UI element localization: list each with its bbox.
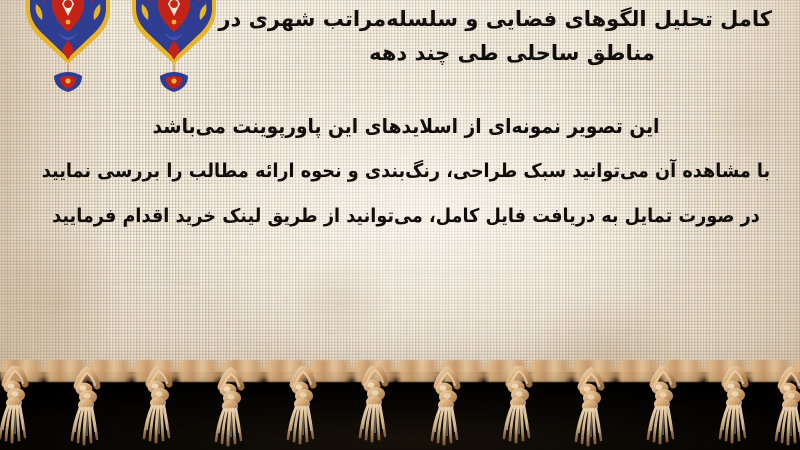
slide-title: کامل تحلیل الگوهای فضایی و سلسله‌مراتب ش… (252, 2, 772, 70)
title-line-1: کامل تحلیل الگوهای فضایی و سلسله‌مراتب ش… (252, 2, 772, 36)
body-line-1: این تصویر نمونه‌ای از اسلایدهای این پاور… (40, 104, 773, 149)
carpet-selvedge-cord (0, 360, 800, 382)
title-line-2: مناطق ساحلی طی چند دهه (252, 36, 772, 70)
carpet-black-border (0, 372, 800, 450)
body-line-3: در صورت تمایل به دریافت فایل کامل، می‌تو… (40, 194, 773, 239)
slide-body: این تصویر نمونه‌ای از اسلایدهای این پاور… (0, 104, 800, 239)
body-line-2: با مشاهده آن می‌توانید سبک طراحی، رنگ‌بن… (40, 149, 773, 194)
carpet-medallion-right-icon (128, 0, 220, 102)
carpet-medallion-left-icon (22, 0, 114, 102)
slide-canvas: کامل تحلیل الگوهای فضایی و سلسله‌مراتب ش… (0, 0, 800, 450)
